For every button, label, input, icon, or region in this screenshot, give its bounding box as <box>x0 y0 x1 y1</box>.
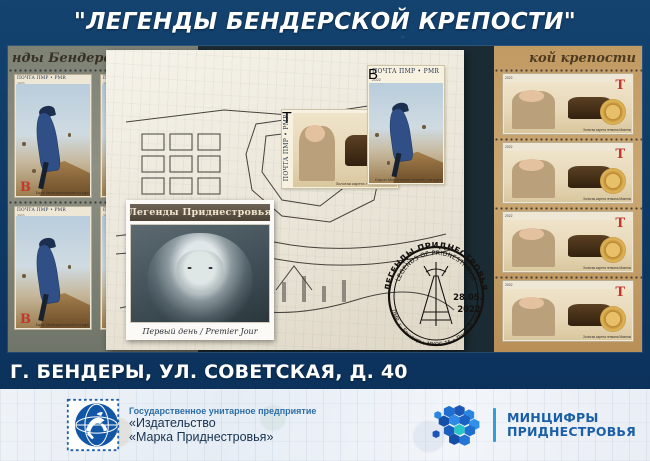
stamp-sheet-right: кой крепости 2022 Золотая карета гетмана… <box>494 46 642 352</box>
mincifry-block: МИНЦИФРЫ ПРИДНЕСТРОВЬЯ <box>430 399 636 451</box>
perforation-row <box>494 68 642 72</box>
postmark-date: 28.05. <box>453 292 483 302</box>
marka-publisher-text: Государственное унитарное предприятие «И… <box>129 406 316 444</box>
sheet-right-stamp: 2022 Золотая карета гетмана Мазепы Т <box>502 73 634 135</box>
mincifry-line-2: ПРИДНЕСТРОВЬЯ <box>507 425 636 439</box>
card-title: Легенды Приднестровья <box>128 207 271 218</box>
mincifry-text: МИНЦИФРЫ ПРИДНЕСТРОВЬЯ <box>507 411 636 440</box>
marka-line-2: «Издательство <box>129 416 316 430</box>
envelope-stamp-munchausen: ПОЧТА ПМР • PMR 2022 Барон Мюнхгаузен пе… <box>368 66 444 184</box>
marka-pridnestrovya-logo-icon <box>66 398 120 452</box>
sheet-left-stamp: ПОЧТА ПМР • PMR 2022 Барон Мюнхгаузен пе… <box>14 206 92 330</box>
perforation-row <box>494 206 642 210</box>
denomination-label: В <box>20 180 31 195</box>
denomination-label: Т <box>615 78 625 93</box>
address-text: Г. БЕНДЕРЫ, УЛ. СОВЕТСКАЯ, Д. 40 <box>0 361 408 383</box>
perforation-row <box>494 275 642 279</box>
first-day-postmark: ЛЕГЕНДЫ ПРИДНЕСТРОВЬЯ LEGENDS OF PRIDNES… <box>380 242 492 350</box>
sheet-right-stamp: 2022 Золотая карета гетмана Мазепы Т <box>502 142 634 204</box>
munchausen-artwork <box>369 83 443 183</box>
sheet-right-stamp: 2022 Золотая карета гетмана Мазепы Т <box>502 211 634 273</box>
face-shape <box>177 250 224 293</box>
perforation-row <box>494 137 642 141</box>
sheet-right-stamp: 2022 Золотая карета гетмана Мазепы Т <box>502 280 634 342</box>
carriage-artwork <box>504 82 632 133</box>
mincifry-hexagon-sphere-icon <box>430 399 482 451</box>
poster-title-bar: "ЛЕГЕНДЫ БЕНДЕРСКОЙ КРЕПОСТИ" <box>0 0 650 43</box>
mincifry-line-1: МИНЦИФРЫ <box>507 411 636 425</box>
main-photograph: нды Бендерско ПОЧТА ПМР • PMR 2022 Барон… <box>8 46 642 352</box>
mincifry-divider <box>493 408 496 442</box>
card-caption: Первый день / Premier Jour <box>130 327 270 336</box>
marka-line-3: «Марка Приднестровья» <box>129 430 316 444</box>
sheet-left-stamp: ПОЧТА ПМР • PMR 2022 Барон Мюнхгаузен пе… <box>14 74 92 198</box>
carriage-artwork <box>504 289 632 340</box>
marka-line-1: Государственное унитарное предприятие <box>129 406 316 416</box>
sheet-right-header: кой крепости <box>494 49 642 68</box>
footer-bar: Государственное унитарное предприятие «И… <box>0 389 650 461</box>
legend-photo-card: Легенды Приднестровья Первый день / Prem… <box>126 200 274 340</box>
white-lady-photo <box>130 224 270 323</box>
carriage-artwork <box>504 220 632 271</box>
postmark-year: 2022 <box>457 304 480 314</box>
address-bar: Г. БЕНДЕРЫ, УЛ. СОВЕТСКАЯ, Д. 40 <box>0 354 650 389</box>
page-title: "ЛЕГЕНДЫ БЕНДЕРСКОЙ КРЕПОСТИ" <box>74 9 576 35</box>
card-title-banner: Легенды Приднестровья <box>130 204 270 221</box>
carriage-artwork <box>504 151 632 202</box>
poster-root: "ЛЕГЕНДЫ БЕНДЕРСКОЙ КРЕПОСТИ" нды Бендер… <box>0 0 650 461</box>
